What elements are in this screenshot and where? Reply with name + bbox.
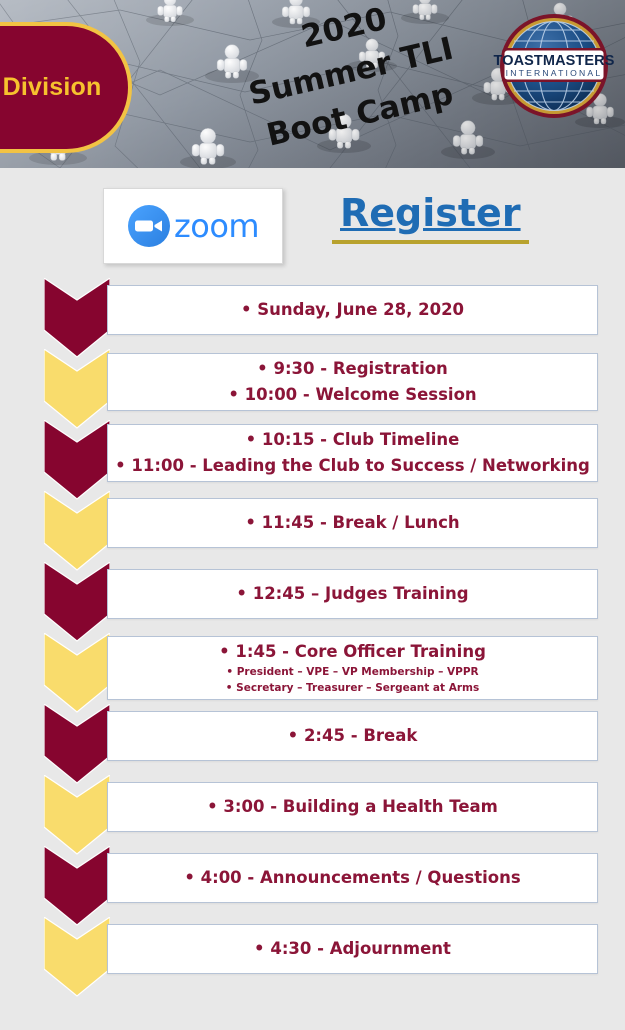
- zoom-wordmark: zoom: [174, 207, 259, 245]
- schedule-item: • Sunday, June 28, 2020: [241, 297, 464, 323]
- schedule-row: • 11:45 - Break / Lunch: [0, 491, 625, 562]
- zoom-logo-card: zoom: [103, 188, 283, 264]
- chevron-down-icon: [44, 775, 110, 855]
- schedule-card: • 1:45 - Core Officer Training• Presiden…: [107, 636, 598, 700]
- chevron-down-icon: [44, 562, 110, 642]
- register-link[interactable]: Register: [332, 192, 529, 244]
- chevron-down-icon: [44, 917, 110, 997]
- schedule-list: • Sunday, June 28, 2020• 9:30 - Registra…: [0, 278, 625, 988]
- chevron-down-icon: [44, 491, 110, 571]
- schedule-row: • 3:00 - Building a Health Team: [0, 775, 625, 846]
- zoom-camera-icon: [127, 204, 171, 248]
- schedule-item: • 3:00 - Building a Health Team: [207, 794, 498, 820]
- schedule-row: • 10:15 - Club Timeline• 11:00 - Leading…: [0, 420, 625, 491]
- schedule-row: • 4:30 - Adjournment: [0, 917, 625, 988]
- chevron-down-icon: [44, 420, 110, 500]
- schedule-item: • 12:45 – Judges Training: [236, 581, 468, 607]
- schedule-card: • 12:45 – Judges Training: [107, 569, 598, 619]
- schedule-item: • 10:15 - Club Timeline: [246, 427, 460, 453]
- schedule-card: • 11:45 - Break / Lunch: [107, 498, 598, 548]
- schedule-card: • 2:45 - Break: [107, 711, 598, 761]
- schedule-row: • 12:45 – Judges Training: [0, 562, 625, 633]
- schedule-card: • 4:00 - Announcements / Questions: [107, 853, 598, 903]
- schedule-row: • Sunday, June 28, 2020: [0, 278, 625, 349]
- chevron-down-icon: [44, 846, 110, 926]
- schedule-row: • 9:30 - Registration• 10:00 - Welcome S…: [0, 349, 625, 420]
- chevron-down-icon: [44, 704, 110, 784]
- division-badge-label: Division: [3, 73, 102, 102]
- schedule-item: • 1:45 - Core Officer Training: [219, 639, 486, 665]
- chevron-down-icon: [44, 278, 110, 358]
- schedule-item: • 11:45 - Break / Lunch: [245, 510, 459, 536]
- schedule-sub-item: • Secretary – Treasurer – Sergeant at Ar…: [226, 681, 479, 697]
- schedule-sub-item: • President – VPE – VP Membership – VPPR: [226, 665, 478, 681]
- schedule-item: • 4:00 - Announcements / Questions: [184, 865, 520, 891]
- schedule-card: • 9:30 - Registration• 10:00 - Welcome S…: [107, 353, 598, 411]
- chevron-down-icon: [44, 633, 110, 713]
- header-banner: Division 2020 Summer TLI Boot Camp TOAST…: [0, 0, 625, 168]
- schedule-card: • 3:00 - Building a Health Team: [107, 782, 598, 832]
- schedule-item: • 2:45 - Break: [288, 723, 418, 749]
- schedule-item: • 11:00 - Leading the Club to Success / …: [115, 453, 590, 479]
- schedule-card: • Sunday, June 28, 2020: [107, 285, 598, 335]
- schedule-item: • 4:30 - Adjournment: [254, 936, 451, 962]
- logo-line-2: INTERNATIONAL: [506, 68, 603, 78]
- schedule-item: • 10:00 - Welcome Session: [228, 382, 476, 408]
- division-badge: Division: [0, 22, 132, 153]
- schedule-row: • 2:45 - Break: [0, 704, 625, 775]
- chevron-down-icon: [44, 349, 110, 429]
- toastmasters-international-logo: TOASTMASTERS INTERNATIONAL: [492, 8, 617, 128]
- schedule-row: • 4:00 - Announcements / Questions: [0, 846, 625, 917]
- logo-line-1: TOASTMASTERS: [494, 53, 615, 69]
- schedule-row: • 1:45 - Core Officer Training• Presiden…: [0, 633, 625, 704]
- promo-row: zoom Register: [0, 180, 625, 268]
- zoom-logo: zoom: [127, 204, 259, 248]
- schedule-item: • 9:30 - Registration: [257, 356, 448, 382]
- schedule-card: • 4:30 - Adjournment: [107, 924, 598, 974]
- schedule-card: • 10:15 - Club Timeline• 11:00 - Leading…: [107, 424, 598, 482]
